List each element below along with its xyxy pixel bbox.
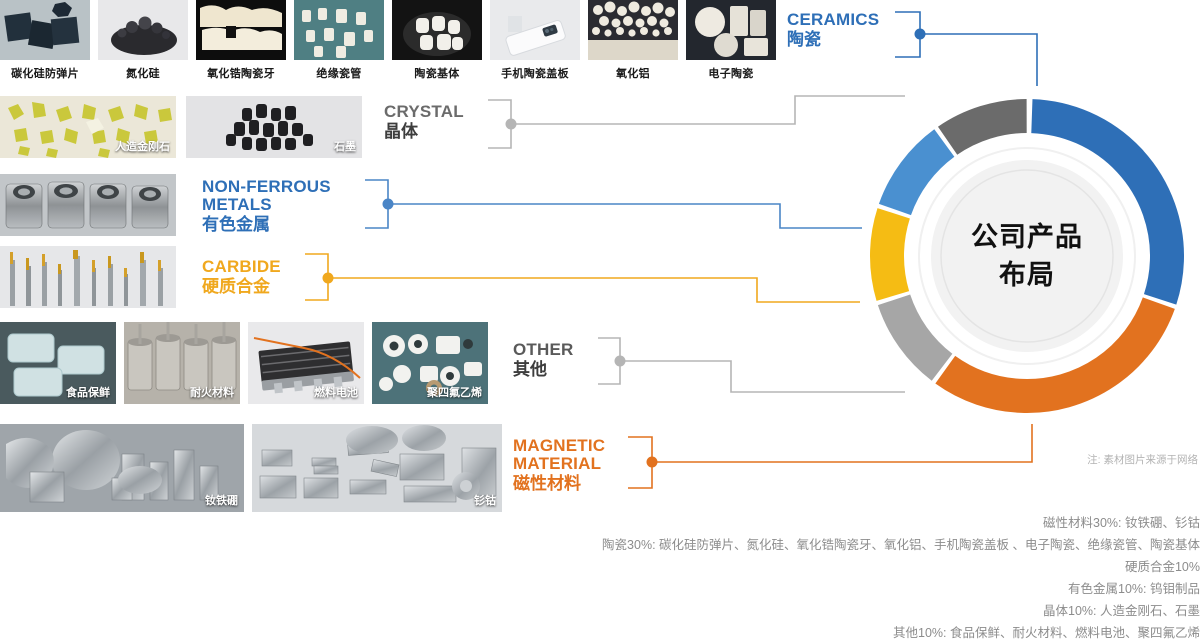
category-label-en: MAGNETIC MATERIAL (513, 437, 605, 473)
photo-tile: 钕铁硼 (0, 424, 244, 512)
photo-caption-overlay: 耐火材料 (190, 384, 234, 400)
photo-caption-overlay: 石墨 (334, 138, 356, 154)
photo-caption: 氧化锆陶瓷牙 (196, 65, 286, 81)
connector-crystal (488, 96, 905, 148)
legend-item: 其他10%: 食品保鲜、耐火材料、燃料电池、聚四氟乙烯 (602, 622, 1200, 644)
legend-item: 磁性材料30%: 钕铁硼、钐钴 (602, 512, 1200, 534)
donut-center-text: 公司产品 布局 (857, 218, 1197, 294)
category-label-en: CRYSTAL (384, 103, 464, 121)
source-note: 注: 素材图片来源于网络 (1087, 452, 1198, 467)
category-label-other[interactable]: OTHER 其他 (513, 341, 574, 380)
photo-caption: 氧化铝 (588, 65, 678, 81)
category-label-cn: 硬质合金 (202, 276, 281, 297)
legend-item: 有色金属10%: 钨钼制品 (602, 578, 1200, 600)
photo-tile (686, 0, 776, 60)
photo-caption: 碳化硅防弹片 (0, 65, 90, 81)
photo-tile: 聚四氟乙烯 (372, 322, 488, 404)
category-label-magnetic[interactable]: MAGNETIC MATERIAL 磁性材料 (513, 437, 605, 494)
category-label-carbide[interactable]: CARBIDE 硬质合金 (202, 258, 281, 297)
category-label-en: CERAMICS (787, 11, 879, 29)
legend-item: 陶瓷30%: 碳化硅防弹片、氮化硅、氧化锆陶瓷牙、氧化铝、手机陶瓷盖板 、电子陶… (602, 534, 1200, 556)
center-line-1: 公司产品 (857, 218, 1197, 256)
legend-item: 晶体10%: 人造金刚石、石墨 (602, 600, 1200, 622)
photo-caption-overlay: 食品保鲜 (66, 384, 110, 400)
photo-caption-overlay: 聚四氟乙烯 (427, 384, 482, 400)
photo-caption-overlay: 人造金刚石 (115, 138, 170, 154)
center-line-2: 布局 (857, 256, 1197, 294)
photo-tile (588, 0, 678, 60)
category-label-ceramics[interactable]: CERAMICS 陶瓷 (787, 11, 879, 50)
photo-tile (294, 0, 384, 60)
photo-tile (98, 0, 188, 60)
photo-caption: 绝缘瓷管 (294, 65, 384, 81)
photo-tile (0, 0, 90, 60)
category-label-en: OTHER (513, 341, 574, 359)
photo-caption: 手机陶瓷盖板 (490, 65, 580, 81)
photo-tile (196, 0, 286, 60)
donut-chart: 公司产品 布局 (857, 86, 1197, 426)
connector-nonferrous (365, 180, 862, 228)
category-label-cn: 其他 (513, 359, 574, 380)
photo-caption: 陶瓷基体 (392, 65, 482, 81)
photo-caption-overlay: 钕铁硼 (205, 492, 238, 508)
category-label-crystal[interactable]: CRYSTAL 晶体 (384, 103, 464, 142)
connector-ceramics (895, 12, 1037, 86)
legend-list: 磁性材料30%: 钕铁硼、钐钴 陶瓷30%: 碳化硅防弹片、氮化硅、氧化锆陶瓷牙… (602, 512, 1200, 644)
category-label-en: NON-FERROUS METALS (202, 178, 331, 214)
photo-tile: 石墨 (186, 96, 362, 158)
category-label-cn: 磁性材料 (513, 473, 605, 494)
connector-carbide (305, 254, 860, 302)
photo-tile: 耐火材料 (124, 322, 240, 404)
infographic-canvas: 碳化硅防弹片 氮化硅 氧化锆陶瓷牙 (0, 0, 1204, 632)
category-label-cn: 晶体 (384, 121, 464, 142)
category-label-en: CARBIDE (202, 258, 281, 276)
photo-caption-overlay: 燃料电池 (314, 384, 358, 400)
legend-item: 硬质合金10% (602, 556, 1200, 578)
photo-tile (0, 174, 176, 236)
photo-tile: 食品保鲜 (0, 322, 116, 404)
category-label-cn: 陶瓷 (787, 29, 879, 50)
photo-tile: 燃料电池 (248, 322, 364, 404)
photo-tile (392, 0, 482, 60)
photo-tile (490, 0, 580, 60)
photo-caption: 电子陶瓷 (686, 65, 776, 81)
category-label-nonferrous[interactable]: NON-FERROUS METALS 有色金属 (202, 178, 331, 235)
category-label-cn: 有色金属 (202, 214, 331, 235)
photo-tile (0, 246, 176, 308)
photo-tile: 钐钴 (252, 424, 502, 512)
photo-caption: 氮化硅 (98, 65, 188, 81)
photo-tile: 人造金刚石 (0, 96, 176, 158)
connector-magnetic (628, 424, 1032, 488)
photo-caption-overlay: 钐钴 (474, 492, 496, 508)
